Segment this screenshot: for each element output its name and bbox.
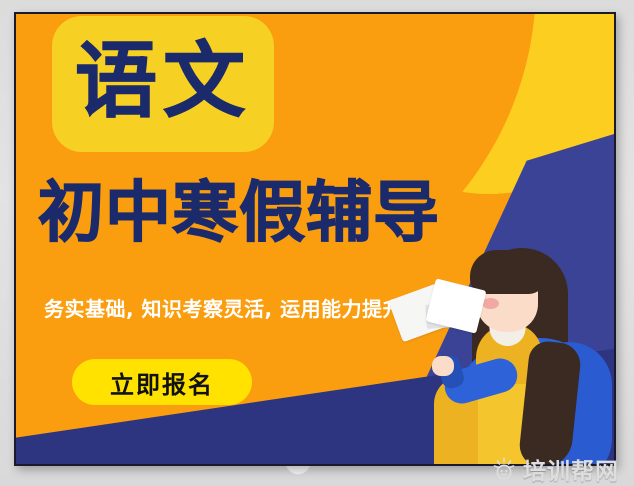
enroll-now-button[interactable]: 立即报名 [72, 359, 252, 405]
girl-hand [432, 356, 454, 376]
poster-subtitle: 务实基础, 知识考察灵活, 运用能力提升 [44, 293, 403, 322]
watermark-text: 培训帮网 [523, 452, 619, 486]
poster-headline: 初中寒假辅导 [38, 180, 440, 246]
promo-banner-frame: 语文 初中寒假辅导 务实基础, 知识考察灵活, 运用能力提升 [14, 12, 616, 466]
screenshot-root: 语文 初中寒假辅导 务实基础, 知识考察灵活, 运用能力提升 [0, 0, 634, 486]
subject-badge: 语文 [52, 16, 274, 152]
promo-poster: 语文 初中寒假辅导 务实基础, 知识考察灵活, 运用能力提升 [16, 14, 614, 464]
reading-girl-illustration [406, 246, 606, 464]
girl-hair-fringe [470, 250, 546, 294]
sun-face-icon [492, 457, 516, 481]
enroll-now-button-label: 立即报名 [110, 365, 214, 400]
girl-cheek [482, 298, 499, 309]
site-watermark: 培训帮网 [492, 452, 619, 486]
subject-badge-label: 语文 [75, 41, 251, 123]
